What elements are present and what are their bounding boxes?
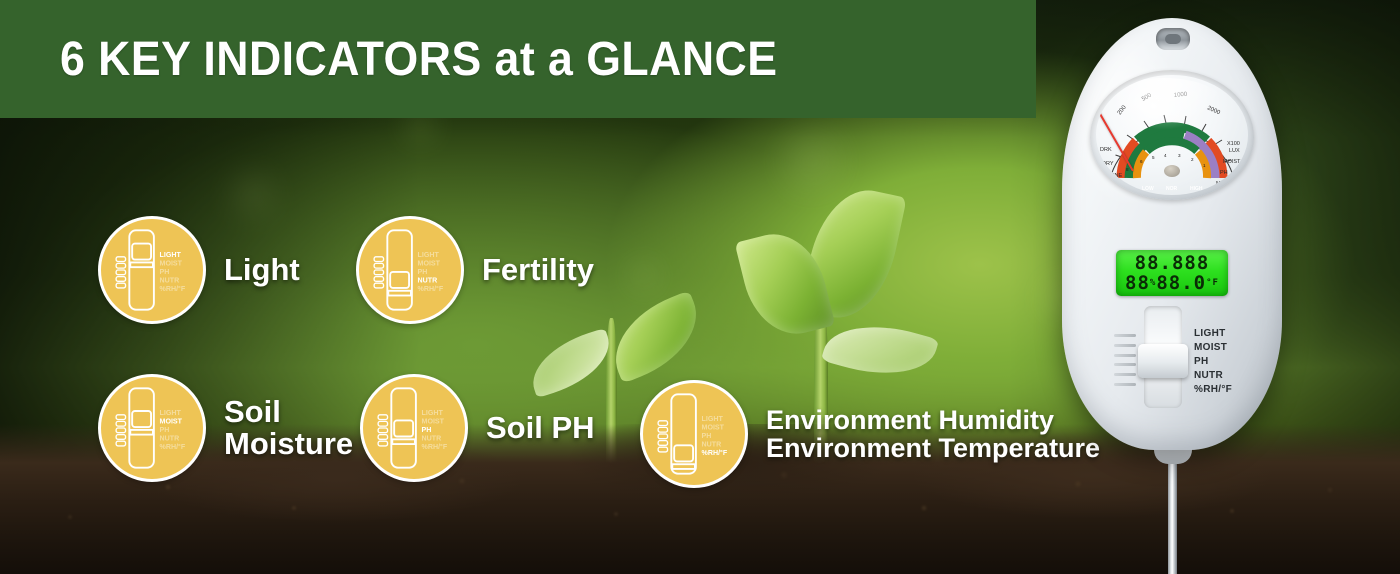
soil-meter-device: 200 500 1000 2000 DRK DRY ALKALINE X100 … [1062,18,1282,574]
svg-text:X100: X100 [1227,141,1240,147]
feature-soil-moisture[interactable]: LIGHTMOISTPHNUTR%RH/°FSoil Moisture [98,374,353,482]
soil-meter-icon: LIGHTMOISTPHNUTR%RH/°F [101,219,203,321]
svg-text:NOR: NOR [1166,186,1178,192]
switch-label-2: PH [1194,356,1232,367]
probe-rod [1168,448,1177,574]
svg-text:DRK: DRK [1100,147,1112,153]
badge-fertility[interactable]: LIGHTMOISTPHNUTR%RH/°F [356,216,464,324]
promo-banner: 6 KEY INDICATORS at a GLANCE LIGHTMOISTP… [0,0,1400,574]
svg-text:HIGH: HIGH [1190,186,1203,192]
switch-label-1: MOIST [1194,342,1232,353]
svg-text:3: 3 [1178,153,1181,158]
badge-mode-light: LIGHT [160,409,182,417]
hanging-hole [1156,28,1190,50]
svg-text:ALKALINE: ALKALINE [1096,173,1123,179]
feature-fertility[interactable]: LIGHTMOISTPHNUTR%RH/°FFertility [356,216,594,324]
lcd-display: 88.888 88%88.0°F [1116,250,1228,296]
feature-label-soil-ph: Soil PH [486,412,595,444]
svg-text:2: 2 [1191,157,1194,162]
feature-label-fertility: Fertility [482,254,594,286]
badge-mode-light: LIGHT [422,409,444,417]
mode-switch-labels: LIGHTMOISTPHNUTR%RH/°F [1194,328,1232,395]
badge-mode-light: LIGHT [418,251,440,259]
analog-dial: 200 500 1000 2000 DRK DRY ALKALINE X100 … [1096,75,1248,195]
grip-ridges [1114,334,1136,386]
badge-mode-nutr: NUTR [418,276,438,284]
badge-mode-ph: PH [160,426,170,434]
badge-mode-moist: MOIST [418,259,441,267]
svg-text:1: 1 [1203,163,1206,168]
svg-text:8: 8 [1126,167,1129,172]
badge-mode-ph: PH [702,432,712,440]
device-body: 200 500 1000 2000 DRK DRY ALKALINE X100 … [1062,18,1282,450]
svg-text:500: 500 [1141,92,1153,103]
badge-mode-nutr: NUTR [160,434,180,442]
lcd-temp-value: 88.0 [1156,272,1206,294]
badge-soil-ph[interactable]: LIGHTMOISTPHNUTR%RH/°F [360,374,468,482]
feature-label-soil-moisture: Soil Moisture [224,396,353,460]
feature-light[interactable]: LIGHTMOISTPHNUTR%RH/°FLight [98,216,300,324]
badge-light[interactable]: LIGHTMOISTPHNUTR%RH/°F [98,216,206,324]
switch-label-3: NUTR [1194,370,1232,381]
svg-text:200: 200 [1117,104,1128,116]
svg-text:5: 5 [1152,155,1155,160]
mode-switch-knob[interactable] [1138,344,1188,378]
svg-text:LOW: LOW [1142,186,1154,192]
svg-text:1000: 1000 [1174,92,1189,99]
badge-mode-moist: MOIST [422,417,445,425]
badge-mode-nutr: NUTR [160,276,180,284]
badge-mode-moist: MOIST [160,417,183,425]
lcd-top-row: 88.888 [1135,254,1210,273]
badge-mode-ph: PH [422,426,432,434]
switch-label-4: %RH/°F [1194,384,1232,395]
svg-text:MOIST: MOIST [1223,159,1241,165]
soil-meter-icon: LIGHTMOISTPHNUTR%RH/°F [359,219,461,321]
soil-meter-icon: LIGHTMOISTPHNUTR%RH/°F [363,377,465,479]
needle-hub [1164,165,1180,177]
badge-mode-moist: MOIST [702,423,725,431]
badge-mode-ph: PH [160,268,170,276]
lcd-humidity-value: 88 [1125,272,1150,294]
lcd-temp-unit: °F [1206,278,1219,288]
switch-label-0: LIGHT [1194,328,1232,339]
feature-label-light: Light [224,254,300,286]
feature-soil-ph[interactable]: LIGHTMOISTPHNUTR%RH/°FSoil PH [360,374,595,482]
badge-mode-rhf: %RH/°F [702,449,728,457]
badge-mode-rhf: %RH/°F [160,443,186,451]
badge-mode-light: LIGHT [160,251,182,259]
feature-label-environment: Environment Humidity Environment Tempera… [766,406,1100,462]
badge-mode-rhf: %RH/°F [422,443,448,451]
badge-environment[interactable]: LIGHTMOISTPHNUTR%RH/°F [640,380,748,488]
svg-text:LUX: LUX [1229,148,1240,154]
badge-mode-ph: PH [418,268,428,276]
badge-mode-light: LIGHT [702,415,724,423]
svg-text:DRY: DRY [1102,161,1114,167]
badge-mode-rhf: %RH/°F [418,285,444,293]
svg-text:NUTR: NUTR [1216,181,1231,187]
soil-meter-icon: LIGHTMOISTPHNUTR%RH/°F [643,383,745,485]
lcd-bottom-row: 88%88.0°F [1125,274,1219,293]
feature-environment[interactable]: LIGHTMOISTPHNUTR%RH/°FEnvironment Humidi… [640,380,1100,488]
svg-text:4: 4 [1164,153,1167,158]
badge-mode-nutr: NUTR [702,440,722,448]
svg-text:6: 6 [1140,159,1143,164]
dial-bezel: 200 500 1000 2000 DRK DRY ALKALINE X100 … [1090,70,1254,200]
svg-text:2000: 2000 [1206,105,1221,116]
soil-meter-icon: LIGHTMOISTPHNUTR%RH/°F [101,377,203,479]
header-bar: 6 KEY INDICATORS at a GLANCE [0,0,1036,118]
badge-mode-rhf: %RH/°F [160,285,186,293]
svg-text:PH: PH [1220,170,1228,176]
badge-mode-moist: MOIST [160,259,183,267]
page-title: 6 KEY INDICATORS at a GLANCE [60,32,777,87]
badge-soil-moisture[interactable]: LIGHTMOISTPHNUTR%RH/°F [98,374,206,482]
badge-mode-nutr: NUTR [422,434,442,442]
dial-face-svg: 200 500 1000 2000 DRK DRY ALKALINE X100 … [1096,75,1248,195]
